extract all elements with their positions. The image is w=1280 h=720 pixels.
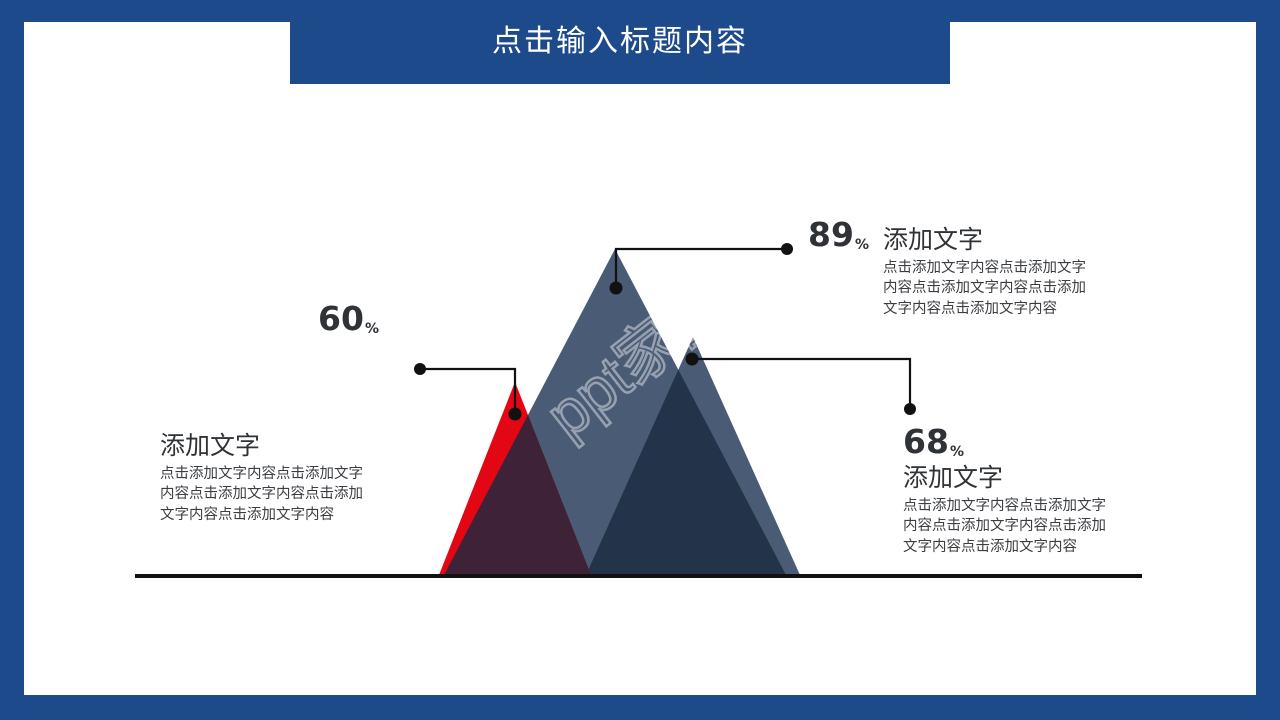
slide-canvas: 点击输入标题内容 <box>0 0 1280 720</box>
connector-left <box>420 369 515 414</box>
page-title: 点击输入标题内容 <box>492 27 748 57</box>
heading-bottom-right: 添加文字 <box>903 464 1203 493</box>
text-block-bottom-right: 添加文字 点击添加文字内容点击添加文字 内容点击添加文字内容点击添加 文字内容点… <box>903 462 1203 557</box>
text-block-left: 添加文字 点击添加文字内容点击添加文字 内容点击添加文字内容点击添加 文字内容点… <box>160 430 440 525</box>
body-top-right: 点击添加文字内容点击添加文字 内容点击添加文字内容点击添加 文字内容点击添加文字… <box>883 258 1183 320</box>
connector-bottom-right <box>692 359 910 409</box>
connector-bottom-right-endpoint-dot <box>904 403 916 415</box>
body-bottom-right: 点击添加文字内容点击添加文字 内容点击添加文字内容点击添加 文字内容点击添加文字… <box>903 496 1203 558</box>
connector-bottom-right-peak-dot <box>686 353 699 366</box>
connector-top-right-peak-dot <box>610 282 623 295</box>
connector-top-right <box>616 249 787 288</box>
heading-left: 添加文字 <box>160 432 440 461</box>
mountain-chart <box>0 0 1280 720</box>
slide-title-banner: 点击输入标题内容 <box>290 0 950 84</box>
heading-top-right: 添加文字 <box>883 226 1183 255</box>
body-left: 点击添加文字内容点击添加文字 内容点击添加文字内容点击添加 文字内容点击添加文字… <box>160 464 440 526</box>
connector-top-right-endpoint-dot <box>781 243 793 255</box>
text-block-top-right: 添加文字 点击添加文字内容点击添加文字 内容点击添加文字内容点击添加 文字内容点… <box>883 224 1183 319</box>
connector-left-endpoint-dot <box>414 363 426 375</box>
connector-left-peak-dot <box>509 408 522 421</box>
